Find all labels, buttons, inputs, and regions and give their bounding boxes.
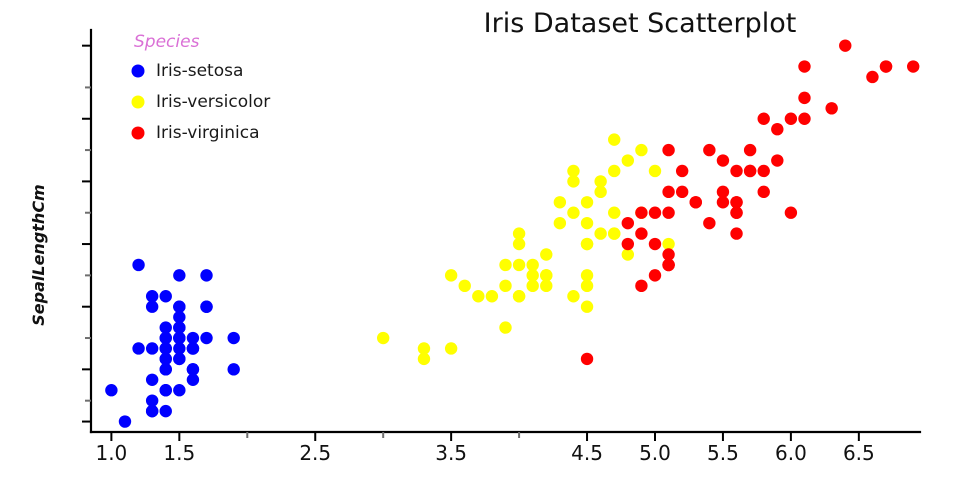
data-point xyxy=(227,332,239,344)
data-point xyxy=(445,342,457,354)
data-point xyxy=(540,248,552,260)
data-point xyxy=(146,405,158,417)
data-point xyxy=(662,186,674,198)
data-point xyxy=(418,342,430,354)
data-point xyxy=(173,353,185,365)
data-point xyxy=(499,280,511,292)
chart-canvas: Iris Dataset Scatterplot SepalLengthCm 1… xyxy=(0,0,960,500)
data-point xyxy=(160,384,172,396)
legend-label-iris-virginica[interactable]: Iris-virginica xyxy=(156,123,260,143)
data-point xyxy=(608,133,620,145)
data-point xyxy=(758,113,770,125)
data-point xyxy=(703,217,715,229)
data-point xyxy=(744,165,756,177)
data-point xyxy=(513,259,525,271)
data-point xyxy=(187,363,199,375)
x-tick-label: 1.5 xyxy=(163,441,195,465)
data-point xyxy=(459,280,471,292)
data-point xyxy=(744,144,756,156)
data-point xyxy=(540,269,552,281)
data-point xyxy=(703,144,715,156)
data-point xyxy=(146,342,158,354)
data-point xyxy=(717,196,729,208)
data-point xyxy=(472,290,484,302)
x-axis-ticks: 1.01.52.53.54.55.05.56.06.5 xyxy=(95,432,874,465)
data-point xyxy=(866,71,878,83)
data-point xyxy=(839,39,851,51)
data-point xyxy=(132,342,144,354)
data-point xyxy=(662,248,674,260)
chart-title: Iris Dataset Scatterplot xyxy=(484,8,797,39)
data-point xyxy=(499,321,511,333)
data-point xyxy=(649,207,661,219)
data-point xyxy=(173,311,185,323)
data-point xyxy=(880,60,892,72)
data-point xyxy=(581,238,593,250)
data-point xyxy=(798,113,810,125)
x-tick-label: 5.5 xyxy=(707,441,739,465)
y-axis-ticks xyxy=(82,46,91,422)
data-point xyxy=(160,321,172,333)
data-point xyxy=(160,290,172,302)
legend-entries: Iris-setosaIris-versicolorIris-virginica xyxy=(132,61,271,143)
data-point xyxy=(581,217,593,229)
data-point xyxy=(622,217,634,229)
x-tick-label: 6.5 xyxy=(843,441,875,465)
data-point xyxy=(187,332,199,344)
data-point xyxy=(622,238,634,250)
data-point xyxy=(825,102,837,114)
data-point xyxy=(635,227,647,239)
data-point xyxy=(649,165,661,177)
data-point xyxy=(567,175,579,187)
data-point xyxy=(499,259,511,271)
x-tick-label: 5.0 xyxy=(639,441,671,465)
data-point xyxy=(160,405,172,417)
x-tick-label: 2.5 xyxy=(299,441,331,465)
data-point xyxy=(581,280,593,292)
data-point xyxy=(798,60,810,72)
legend: Species Iris-setosaIris-versicolorIris-v… xyxy=(132,32,271,143)
data-point xyxy=(690,196,702,208)
data-point xyxy=(377,332,389,344)
legend-label-iris-versicolor[interactable]: Iris-versicolor xyxy=(156,92,270,112)
data-point xyxy=(567,290,579,302)
data-point xyxy=(785,207,797,219)
data-point xyxy=(160,363,172,375)
legend-marker-iris-setosa[interactable] xyxy=(132,65,145,78)
data-point xyxy=(119,415,131,427)
data-point xyxy=(581,196,593,208)
data-point xyxy=(173,332,185,344)
scatterplot-figure: Iris Dataset Scatterplot SepalLengthCm 1… xyxy=(0,0,960,500)
data-point xyxy=(635,280,647,292)
data-point xyxy=(513,290,525,302)
axes xyxy=(91,30,920,432)
data-point xyxy=(649,238,661,250)
data-point xyxy=(132,259,144,271)
data-point xyxy=(173,269,185,281)
data-point xyxy=(200,332,212,344)
data-point xyxy=(608,207,620,219)
data-point xyxy=(717,154,729,166)
data-point xyxy=(622,154,634,166)
data-point xyxy=(635,207,647,219)
data-point xyxy=(227,363,239,375)
legend-marker-iris-versicolor[interactable] xyxy=(132,96,145,109)
y-axis-label: SepalLengthCm xyxy=(29,184,48,325)
data-point xyxy=(676,165,688,177)
data-point xyxy=(785,113,797,125)
data-point xyxy=(771,154,783,166)
data-point xyxy=(486,290,498,302)
data-point xyxy=(105,384,117,396)
data-point xyxy=(445,269,457,281)
data-point xyxy=(771,123,783,135)
data-point xyxy=(662,207,674,219)
data-point xyxy=(581,353,593,365)
x-tick-label: 3.5 xyxy=(435,441,467,465)
data-point xyxy=(160,342,172,354)
data-point xyxy=(730,207,742,219)
data-point xyxy=(173,384,185,396)
x-tick-label: 1.0 xyxy=(95,441,127,465)
data-point xyxy=(730,165,742,177)
data-point xyxy=(594,175,606,187)
data-point xyxy=(798,92,810,104)
data-point xyxy=(758,165,770,177)
x-tick-label: 6.0 xyxy=(775,441,807,465)
data-point xyxy=(662,144,674,156)
data-point xyxy=(608,227,620,239)
data-point xyxy=(526,269,538,281)
data-point xyxy=(513,227,525,239)
series-iris-virginica xyxy=(581,39,920,365)
data-point xyxy=(200,301,212,313)
data-point xyxy=(649,269,661,281)
data-point xyxy=(730,227,742,239)
legend-title: Species xyxy=(134,32,200,52)
data-point xyxy=(581,301,593,313)
data-point xyxy=(907,60,919,72)
x-tick-label: 4.5 xyxy=(571,441,603,465)
data-point xyxy=(594,227,606,239)
data-point xyxy=(554,196,566,208)
legend-label-iris-setosa[interactable]: Iris-setosa xyxy=(156,61,243,81)
data-point xyxy=(758,186,770,198)
series-iris-setosa xyxy=(105,259,240,428)
data-point xyxy=(554,217,566,229)
data-point xyxy=(146,290,158,302)
data-point xyxy=(635,144,647,156)
data-point xyxy=(146,374,158,386)
legend-marker-iris-virginica[interactable] xyxy=(132,127,145,140)
data-point xyxy=(567,207,579,219)
data-point xyxy=(676,186,688,198)
data-point xyxy=(608,165,620,177)
data-point xyxy=(200,269,212,281)
